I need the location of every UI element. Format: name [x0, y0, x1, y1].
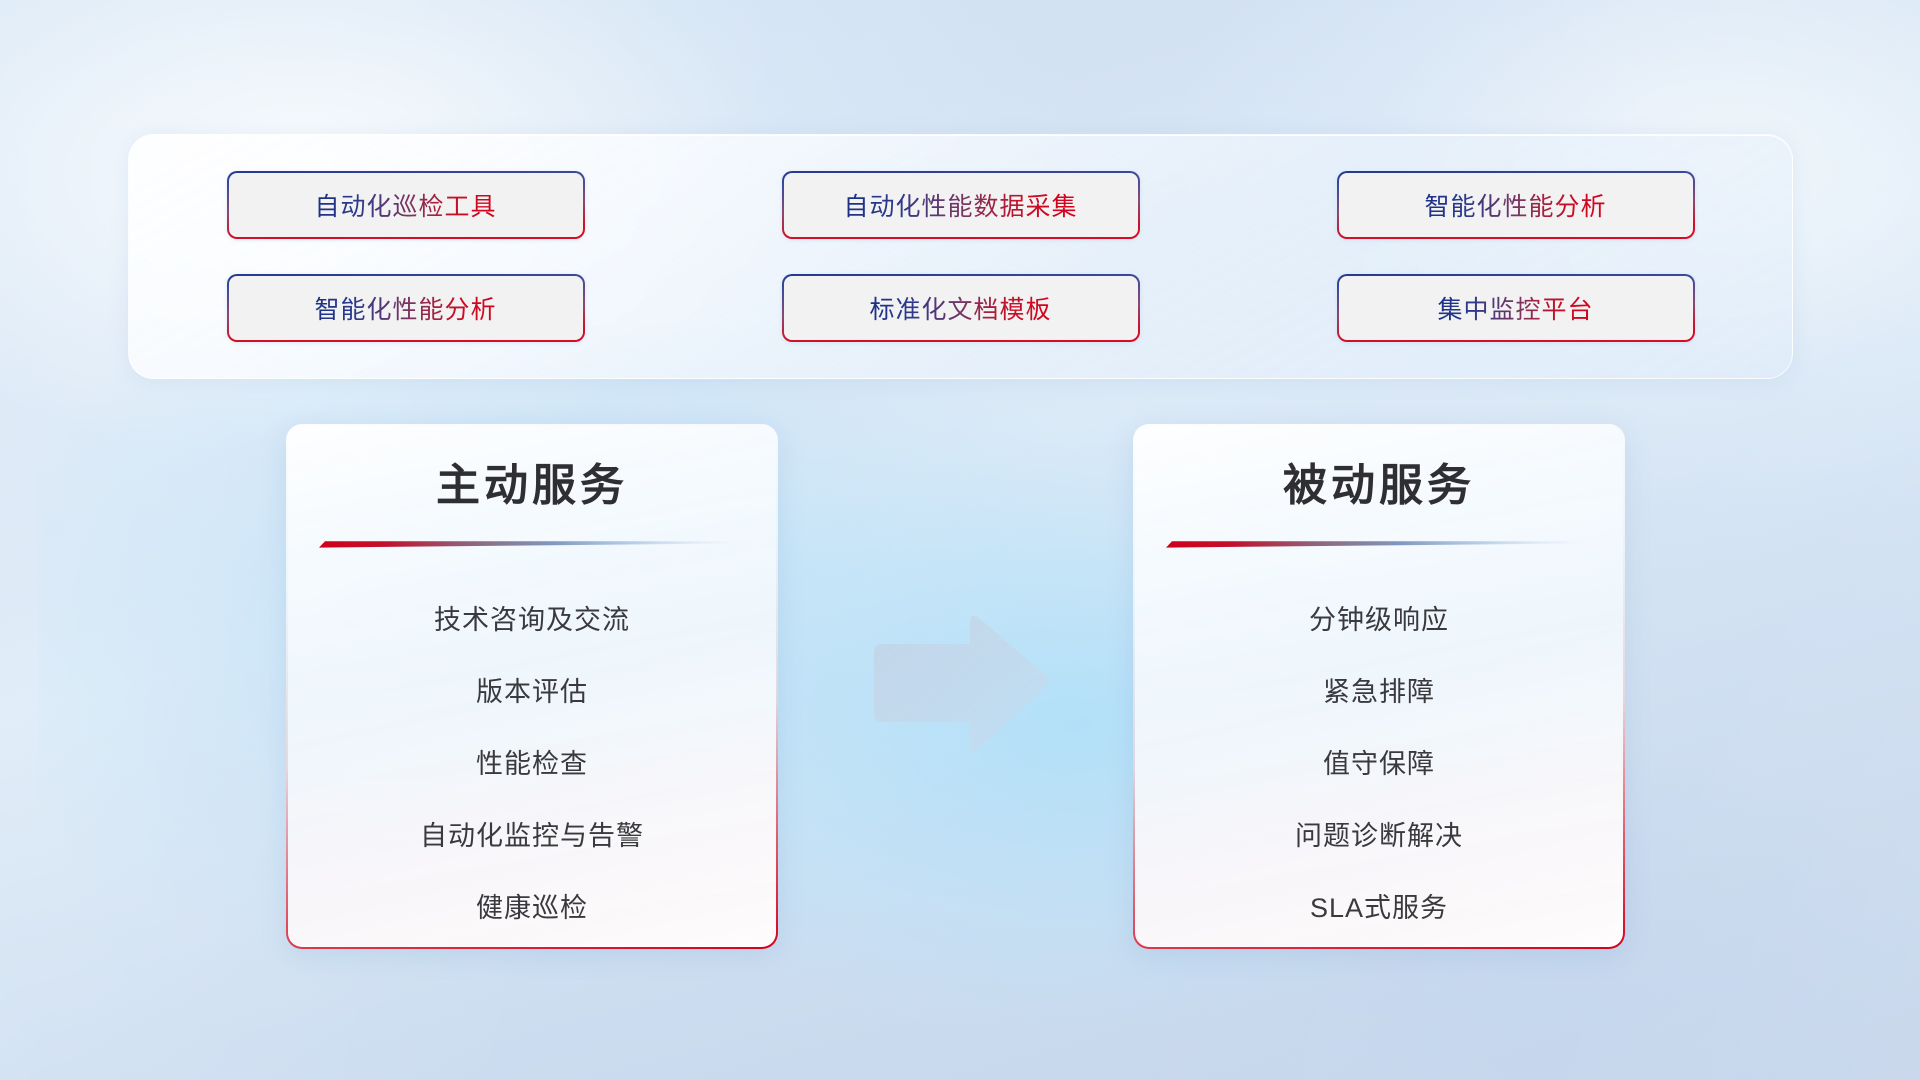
- capability-tag[interactable]: 自动化巡检工具: [227, 171, 585, 239]
- service-item-list: 技术咨询及交流 版本评估 性能检查 自动化监控与告警 健康巡检: [288, 584, 776, 944]
- capability-tag-surface: 自动化巡检工具: [229, 173, 583, 237]
- service-item: SLA式服务: [1310, 872, 1448, 944]
- service-item: 性能检查: [476, 728, 588, 800]
- capability-tag-label: 集中监控平台: [1437, 290, 1593, 326]
- service-item: 技术咨询及交流: [434, 584, 630, 656]
- capability-tag-label: 标准化文档模板: [869, 290, 1051, 326]
- service-item: 分钟级响应: [1309, 584, 1449, 656]
- capability-tag-surface: 标准化文档模板: [784, 276, 1138, 340]
- service-item: 自动化监控与告警: [420, 800, 644, 872]
- service-card-reactive[interactable]: 被动服务: [1133, 424, 1625, 949]
- capability-tag-surface: 集中监控平台: [1339, 276, 1693, 340]
- service-item-list: 分钟级响应 紧急排障 值守保障 问题诊断解决 SLA式服务: [1135, 584, 1623, 944]
- capability-tag[interactable]: 自动化性能数据采集: [782, 171, 1140, 239]
- service-card-surface: 被动服务: [1135, 426, 1623, 947]
- service-item: 问题诊断解决: [1295, 800, 1463, 872]
- service-item: 版本评估: [476, 656, 588, 728]
- capability-tag-label: 自动化性能数据采集: [843, 187, 1077, 223]
- capability-tag-grid: 自动化巡检工具 自动化性能数据采集 智能化性能分析 智能化性能分析: [227, 171, 1695, 342]
- service-card-title: 被动服务: [1283, 460, 1475, 513]
- capability-tag[interactable]: 智能化性能分析: [227, 274, 585, 342]
- slide-stage: 自动化巡检工具 自动化性能数据采集 智能化性能分析 智能化性能分析: [0, 0, 1920, 1080]
- service-card-title: 主动服务: [436, 460, 628, 513]
- capability-tag-surface: 自动化性能数据采集: [784, 173, 1138, 237]
- service-item: 紧急排障: [1323, 656, 1435, 728]
- capability-tag-label: 智能化性能分析: [1424, 187, 1606, 223]
- capability-tag-surface: 智能化性能分析: [229, 276, 583, 340]
- capability-panel: 自动化巡检工具 自动化性能数据采集 智能化性能分析 智能化性能分析: [128, 134, 1793, 379]
- service-item: 值守保障: [1323, 728, 1435, 800]
- capability-tag[interactable]: 智能化性能分析: [1337, 171, 1695, 239]
- capability-tag[interactable]: 集中监控平台: [1337, 274, 1695, 342]
- card-divider: [1166, 539, 1592, 548]
- service-item: 健康巡检: [476, 872, 588, 944]
- card-divider: [319, 539, 745, 548]
- capability-tag-surface: 智能化性能分析: [1339, 173, 1693, 237]
- capability-tag-label: 智能化性能分析: [314, 290, 496, 326]
- service-card-proactive[interactable]: 主动服务: [286, 424, 778, 949]
- service-card-surface: 主动服务: [288, 426, 776, 947]
- capability-tag[interactable]: 标准化文档模板: [782, 274, 1140, 342]
- arrow-right-icon: [866, 612, 1051, 757]
- capability-tag-label: 自动化巡检工具: [314, 187, 496, 223]
